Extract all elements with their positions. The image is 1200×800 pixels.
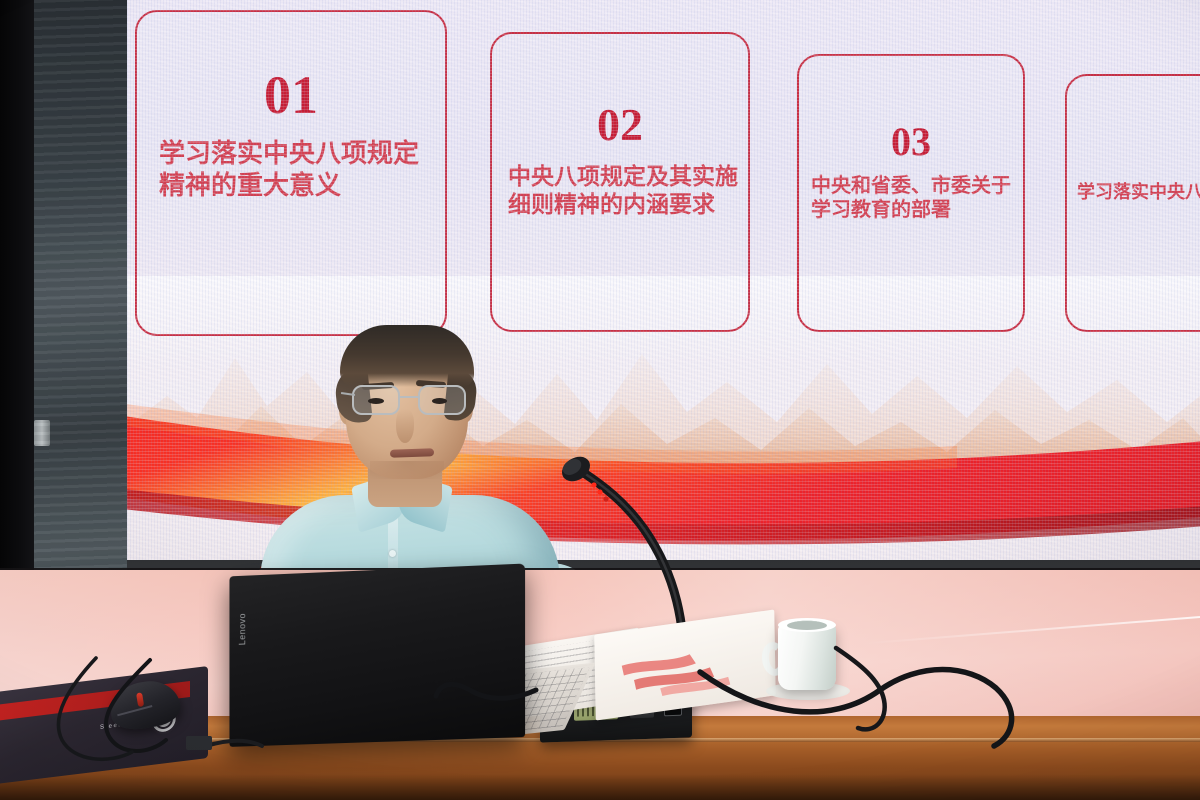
card-text: 学习落实中央八项规定精神，推动城投发展稳步向前 xyxy=(1067,182,1200,204)
laptop-brand-logo: Lenovo xyxy=(237,599,253,645)
shirt-button xyxy=(389,550,396,557)
card-text: 学习落实中央八项规定精神的重大意义 xyxy=(137,138,445,201)
mug-inner-opening xyxy=(787,621,827,630)
contents-card-04: 04 学习落实中央八项规定精神，推动城投发展稳步向前 xyxy=(1065,74,1200,332)
screenshot-scene: contents 01 学习落实中央八项规定精神的重大意义 02 中央八项规定及… xyxy=(0,0,1200,800)
card-text: 中央和省委、市委关于学习教育的部署 xyxy=(799,174,1023,223)
mouse-scroll-wheel[interactable] xyxy=(136,692,144,707)
hair-top xyxy=(340,325,474,387)
glasses-bridge xyxy=(400,396,420,398)
door-handle xyxy=(34,420,50,446)
contents-card-02: 02 中央八项规定及其实施细则精神的内涵要求 xyxy=(490,32,750,332)
desk-front-shadow xyxy=(0,774,1200,800)
card-text: 中央八项规定及其实施细则精神的内涵要求 xyxy=(492,162,748,218)
card-number: 02 xyxy=(492,102,748,148)
contents-card-03: 03 中央和省委、市委关于学习教育的部署 xyxy=(797,54,1025,332)
contents-card-01: 01 学习落实中央八项规定精神的重大意义 xyxy=(135,10,447,336)
card-number: 03 xyxy=(799,122,1023,162)
eye-right xyxy=(432,398,447,404)
eyeglasses-icon xyxy=(350,385,470,417)
mouth xyxy=(390,448,434,458)
card-number: 01 xyxy=(137,68,445,122)
slide-contents-cards: 01 学习落实中央八项规定精神的重大意义 02 中央八项规定及其实施细则精神的内… xyxy=(135,6,1200,356)
coffee-mug-icon xyxy=(778,624,836,690)
mouse-button-split xyxy=(117,705,152,716)
eye-left xyxy=(368,398,384,404)
laptop-icon[interactable]: Lenovo xyxy=(229,564,525,747)
card-number: 04 xyxy=(1067,136,1200,172)
chin-shadow xyxy=(370,461,444,479)
